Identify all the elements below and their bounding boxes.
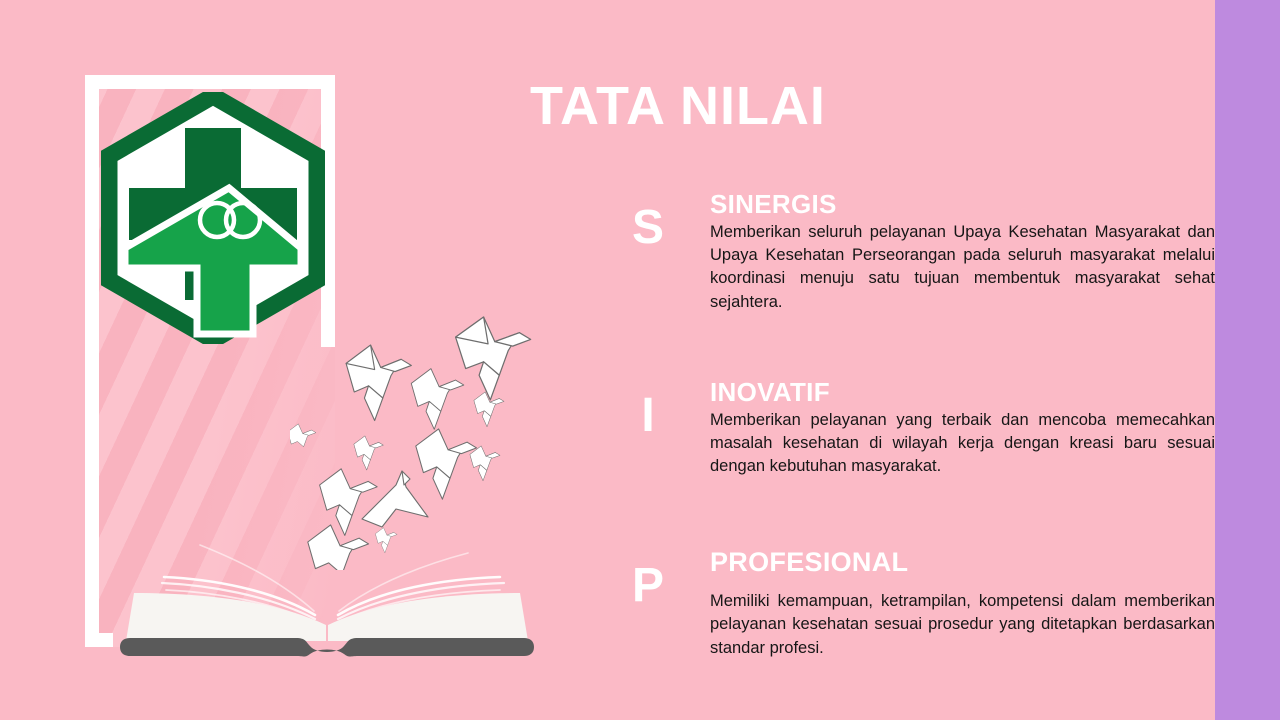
value-description: Memiliki kemampuan, ketrampilan, kompete… bbox=[710, 590, 1215, 660]
value-name-heading: INOVATIF bbox=[710, 378, 1215, 407]
value-block-inovatif: I INOVATIF Memberikan pelayanan yang ter… bbox=[612, 378, 1212, 479]
slide-canvas: TATA NILAI S SINERGIS Memberikan seluruh… bbox=[0, 0, 1280, 720]
value-description: Memberikan seluruh pelayanan Upaya Keseh… bbox=[710, 221, 1215, 315]
value-block-profesional: P PROFESIONAL Memiliki kemampuan, ketram… bbox=[612, 548, 1212, 660]
open-book-icon bbox=[100, 515, 570, 663]
value-name-heading: PROFESIONAL bbox=[710, 548, 1215, 578]
value-description: Memberikan pelayanan yang terbaik dan me… bbox=[710, 409, 1215, 479]
value-name-heading: SINERGIS bbox=[710, 190, 1215, 219]
frame-top-edge bbox=[85, 75, 335, 89]
value-block-sinergis: S SINERGIS Memberikan seluruh pelayanan … bbox=[612, 190, 1212, 314]
value-initial-letter: I bbox=[612, 392, 684, 440]
purple-accent-strip bbox=[1215, 0, 1280, 720]
frame-left-edge bbox=[85, 75, 99, 647]
page-title: TATA NILAI bbox=[530, 78, 875, 135]
value-initial-letter: S bbox=[612, 204, 684, 252]
value-initial-letter: P bbox=[612, 562, 684, 610]
